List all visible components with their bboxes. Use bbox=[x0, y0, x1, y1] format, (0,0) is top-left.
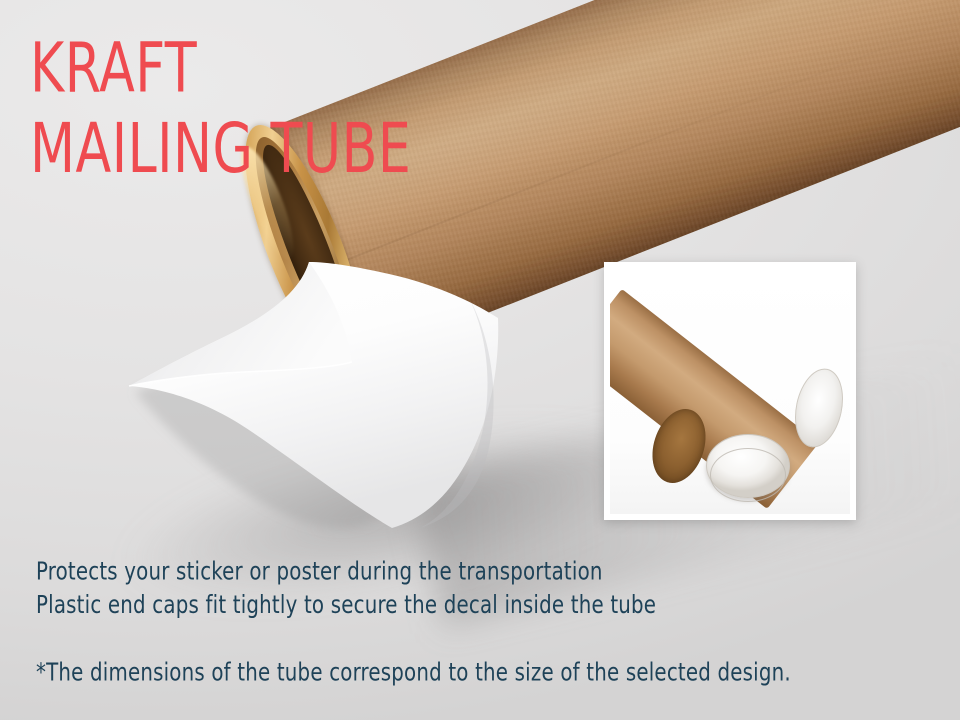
page-title: KRAFT MAILING TUBE bbox=[30, 28, 411, 190]
product-promo-canvas: KRAFT MAILING TUBE Protects your sticker… bbox=[0, 0, 960, 720]
feature-line-1: Protects your sticker or poster during t… bbox=[36, 556, 656, 590]
title-line-2: MAILING TUBE bbox=[30, 109, 411, 190]
inset-loose-cap-lip bbox=[710, 448, 786, 502]
inset-product-photo[interactable] bbox=[604, 262, 856, 520]
footnote: *The dimensions of the tube correspond t… bbox=[36, 658, 791, 689]
inset-photo-content bbox=[610, 268, 850, 514]
feature-line-2: Plastic end caps fit tightly to secure t… bbox=[36, 590, 656, 624]
title-line-1: KRAFT bbox=[30, 28, 411, 109]
feature-list: Protects your sticker or poster during t… bbox=[36, 556, 656, 623]
poster-edge-highlight bbox=[129, 362, 352, 386]
